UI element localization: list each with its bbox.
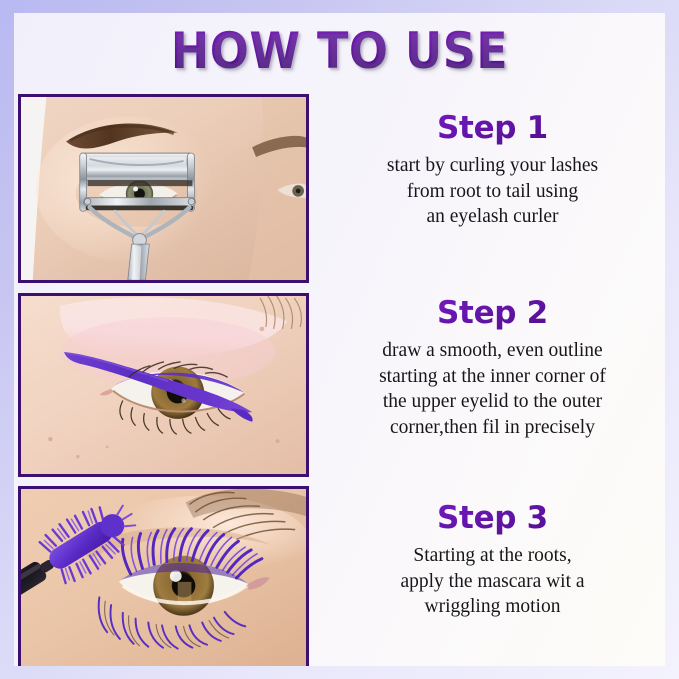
step-3-line-2: apply the mascara wit a [330, 569, 655, 595]
photo-panel-step-1 [18, 94, 309, 283]
step-2-block: Step 2 draw a smooth, even outline start… [320, 294, 665, 440]
step-3-line-3: wriggling motion [330, 594, 655, 620]
step-2-line-1: draw a smooth, even outline [330, 338, 655, 364]
step-3-heading: Step 3 [320, 499, 665, 537]
step-1-line-1: start by curling your lashes [330, 153, 655, 179]
step-1-heading: Step 1 [320, 109, 665, 147]
step-2-line-4: corner,then fil in precisely [330, 415, 655, 441]
steps-column: Step 1 start by curling your lashes from… [320, 13, 665, 666]
how-to-use-poster: HOW TO USE [0, 0, 679, 679]
step-1-line-3: an eyelash curler [330, 204, 655, 230]
step-1-line-2: from root to tail using [330, 179, 655, 205]
purple-mascara-photo [21, 489, 306, 666]
step-2-line-3: the upper eyelid to the outer [330, 389, 655, 415]
photo-panel-step-3 [18, 486, 309, 666]
eyelash-curler-photo [21, 97, 306, 280]
step-2-body: draw a smooth, even outline starting at … [320, 338, 665, 440]
step-2-line-2: starting at the inner corner of [330, 364, 655, 390]
photo-panel-step-2 [18, 293, 309, 477]
step-1-block: Step 1 start by curling your lashes from… [320, 109, 665, 230]
step-1-body: start by curling your lashes from root t… [320, 153, 665, 230]
step-3-line-1: Starting at the roots, [330, 543, 655, 569]
step-3-block: Step 3 Starting at the roots, apply the … [320, 499, 665, 620]
purple-eyeliner-photo [21, 296, 306, 474]
poster-card: HOW TO USE [14, 13, 665, 666]
step-3-body: Starting at the roots, apply the mascara… [320, 543, 665, 620]
step-2-heading: Step 2 [320, 294, 665, 332]
